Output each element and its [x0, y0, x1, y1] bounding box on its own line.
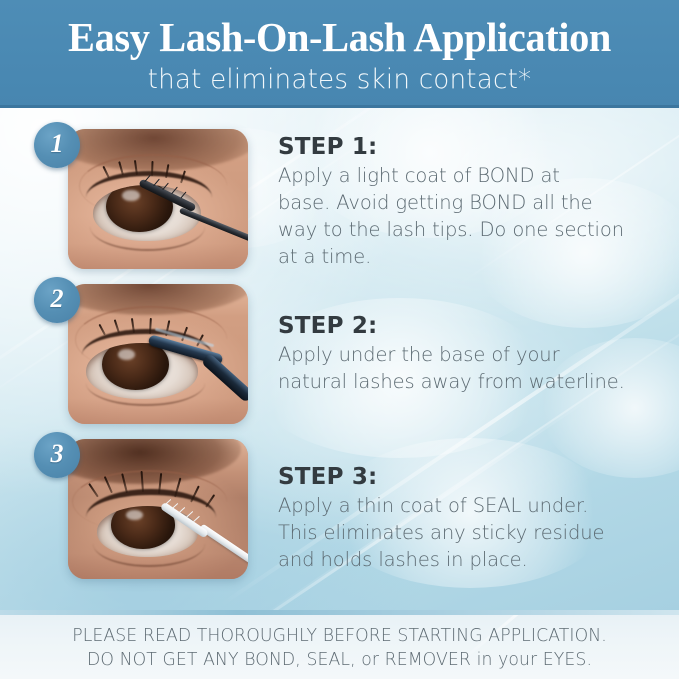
step-2-text: STEP 2: Apply under the base of your nat…: [278, 312, 674, 395]
eyelash: [151, 161, 153, 176]
page-title: Easy Lash-On-Lash Application: [5, 14, 674, 60]
step-2-badge-number: 2: [34, 277, 80, 323]
page-subtitle: that eliminates skin contact*: [10, 63, 669, 97]
step-1-photo: [68, 129, 248, 269]
step-3-heading: STEP 3:: [278, 463, 674, 491]
step-2-heading: STEP 2:: [278, 312, 674, 340]
steps-section: 1 STEP 1: Apply a light coat of BOND at …: [0, 108, 679, 614]
step-1-badge-number: 1: [34, 122, 80, 168]
step-1-heading: STEP 1:: [278, 133, 674, 161]
step-2-badge: 2: [34, 277, 80, 323]
step-3-badge: 3: [34, 432, 80, 478]
step-1-text: STEP 1: Apply a light coat of BOND at ba…: [278, 133, 674, 270]
step-3-photo: [68, 439, 248, 579]
step-2-body: Apply under the base of your natural las…: [278, 341, 674, 395]
lower-lash-line: [86, 360, 205, 407]
step-3-body: Apply a thin coat of SEAL under. This el…: [278, 492, 674, 573]
footer-warning-line-1: PLEASE READ THOROUGHLY BEFORE STARTING A…: [5, 624, 674, 649]
step-3-text: STEP 3: Apply a thin coat of SEAL under.…: [278, 463, 674, 573]
step-2-photo: [68, 284, 248, 424]
header-band: Easy Lash-On-Lash Application that elimi…: [0, 0, 679, 108]
step-1-body: Apply a light coat of BOND at base. Avoi…: [278, 162, 674, 270]
step-1-badge: 1: [34, 122, 80, 168]
footer-warning-line-2: DO NOT GET ANY BOND, SEAL, or REMOVER in…: [5, 648, 674, 673]
lash-application-infographic: Easy Lash-On-Lash Application that elimi…: [0, 0, 679, 679]
footer-band: PLEASE READ THOROUGHLY BEFORE STARTING A…: [0, 615, 679, 679]
step-3-badge-number: 3: [34, 432, 80, 478]
